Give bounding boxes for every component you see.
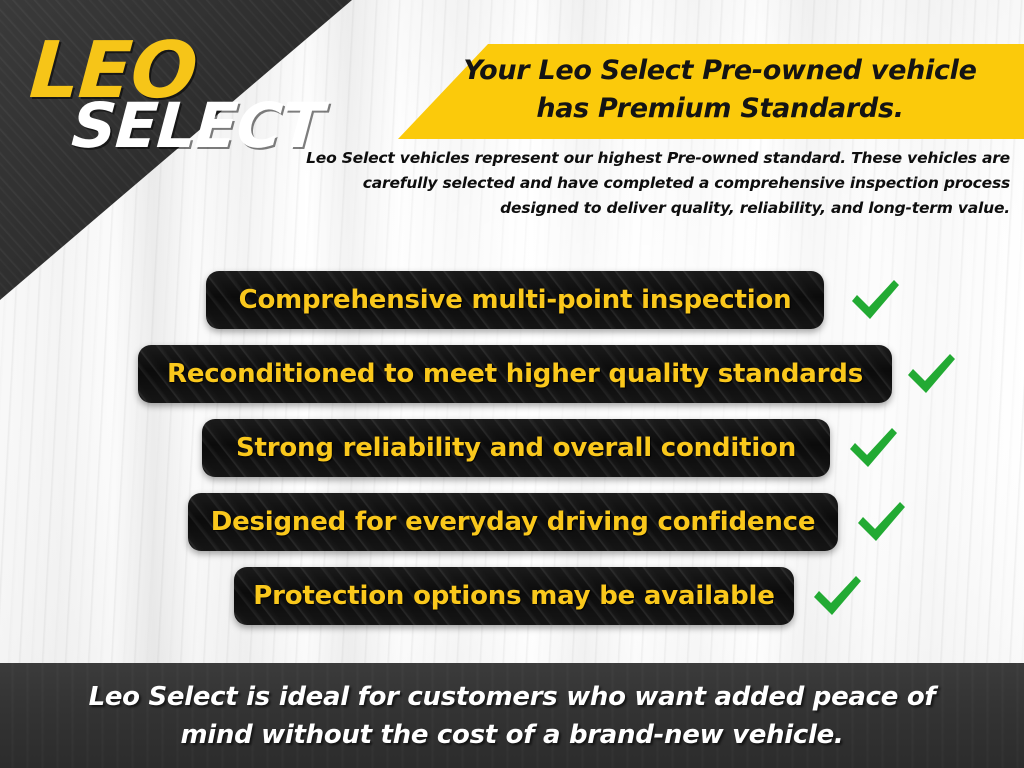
feature-label: Protection options may be available — [234, 581, 794, 611]
leo-select-promo-poster: LEO SELECT Your Leo Select Pre-owned veh… — [0, 0, 1024, 768]
footer-bar: Leo Select is ideal for customers who wa… — [0, 663, 1024, 768]
feature-row: Protection options may be available — [0, 564, 1024, 637]
headline-line-2: has Premium Standards. — [420, 90, 1020, 128]
intro-paragraph: Leo Select vehicles represent our highes… — [305, 146, 1010, 221]
check-icon — [846, 422, 900, 474]
footer-line-1: Leo Select is ideal for customers who wa… — [0, 679, 1024, 717]
feature-list: Comprehensive multi-point inspection Rec… — [0, 268, 1024, 638]
footer-line-2: mind without the cost of a brand-new veh… — [0, 717, 1024, 755]
feature-row: Designed for everyday driving confidence — [0, 490, 1024, 563]
feature-pill: Designed for everyday driving confidence — [188, 493, 838, 551]
feature-row: Strong reliability and overall condition — [0, 416, 1024, 489]
feature-pill: Reconditioned to meet higher quality sta… — [138, 345, 892, 403]
feature-label: Comprehensive multi-point inspection — [217, 285, 814, 315]
feature-row: Reconditioned to meet higher quality sta… — [0, 342, 1024, 415]
check-icon — [810, 570, 864, 622]
feature-pill: Strong reliability and overall condition — [202, 419, 830, 477]
feature-label: Reconditioned to meet higher quality sta… — [145, 359, 885, 389]
feature-row: Comprehensive multi-point inspection — [0, 268, 1024, 341]
check-icon — [848, 274, 902, 326]
footer-text: Leo Select is ideal for customers who wa… — [0, 663, 1024, 755]
headline-banner-text: Your Leo Select Pre-owned vehicle has Pr… — [420, 52, 1020, 129]
feature-pill: Comprehensive multi-point inspection — [206, 271, 824, 329]
feature-label: Designed for everyday driving confidence — [189, 507, 838, 537]
feature-label: Strong reliability and overall condition — [214, 433, 818, 463]
check-icon — [854, 496, 908, 548]
headline-line-1: Your Leo Select Pre-owned vehicle — [420, 52, 1020, 90]
check-icon — [904, 348, 958, 400]
feature-pill: Protection options may be available — [234, 567, 794, 625]
